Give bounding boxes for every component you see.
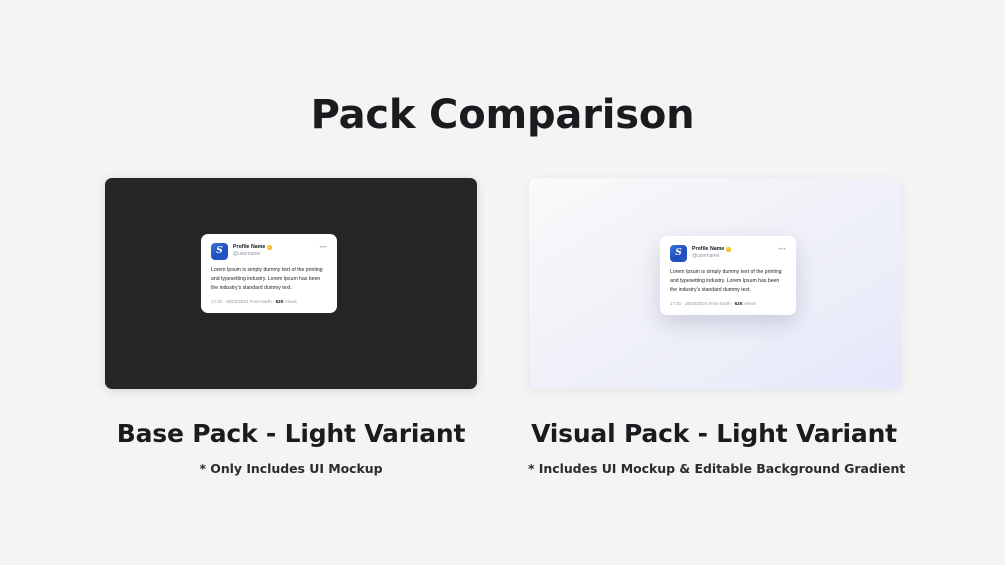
tweet-body-text: Lorem Ipsum is simply dummy text of the …: [211, 266, 327, 292]
tweet-source: From Earth: [709, 301, 731, 306]
pack-subcaption-base: * Only Includes UI Mockup: [105, 461, 477, 476]
preview-card-visual-pack[interactable]: S Profile Name @username ••• Lorem Ipsum…: [529, 178, 901, 389]
more-options-icon[interactable]: •••: [319, 245, 327, 251]
tweet-source: From Earth: [250, 299, 272, 304]
tweet-views-count: 62K: [276, 299, 284, 304]
verified-badge-icon: [267, 245, 272, 250]
profile-handle: @username: [233, 251, 272, 258]
tweet-header: S Profile Name @username •••: [211, 243, 327, 260]
page-title: Pack Comparison: [0, 92, 1005, 138]
tweet-time: 17:20: [670, 301, 681, 306]
tweet-meta: 17:20 · 26/02/2024 From Earth · 62K View…: [211, 299, 327, 305]
avatar: S: [670, 245, 687, 262]
pack-column-visual: S Profile Name @username ••• Lorem Ipsum…: [529, 178, 901, 476]
preview-card-base-pack[interactable]: S Profile Name @username ••• Lorem Ipsum…: [105, 178, 477, 389]
tweet-body-text: Lorem Ipsum is simply dummy text of the …: [670, 268, 786, 294]
tweet-identity: Profile Name @username: [692, 245, 731, 259]
tweet-date: 26/02/2024: [226, 299, 248, 304]
tweet-mockup: S Profile Name @username ••• Lorem Ipsum…: [201, 234, 337, 313]
pack-subcaption-visual: * Includes UI Mockup & Editable Backgrou…: [528, 461, 900, 476]
verified-badge-icon: [726, 247, 731, 252]
tweet-mockup: S Profile Name @username ••• Lorem Ipsum…: [660, 236, 796, 315]
pack-caption-base: Base Pack - Light Variant: [105, 419, 477, 448]
pack-column-base: S Profile Name @username ••• Lorem Ipsum…: [105, 178, 477, 476]
tweet-views-count: 62K: [735, 301, 743, 306]
tweet-header: S Profile Name @username •••: [670, 245, 786, 262]
tweet-views-label: Views: [285, 299, 297, 304]
avatar: S: [211, 243, 228, 260]
tweet-time: 17:20: [211, 299, 222, 304]
page-root: Pack Comparison S Profile Name @username…: [0, 0, 1005, 565]
tweet-identity: Profile Name @username: [233, 243, 272, 257]
more-options-icon[interactable]: •••: [778, 247, 786, 253]
profile-handle: @username: [692, 253, 731, 260]
pack-caption-visual: Visual Pack - Light Variant: [528, 419, 900, 448]
tweet-meta: 17:20 · 26/02/2024 From Earth · 62K View…: [670, 301, 786, 307]
tweet-date: 26/02/2024: [685, 301, 707, 306]
tweet-views-label: Views: [744, 301, 756, 306]
